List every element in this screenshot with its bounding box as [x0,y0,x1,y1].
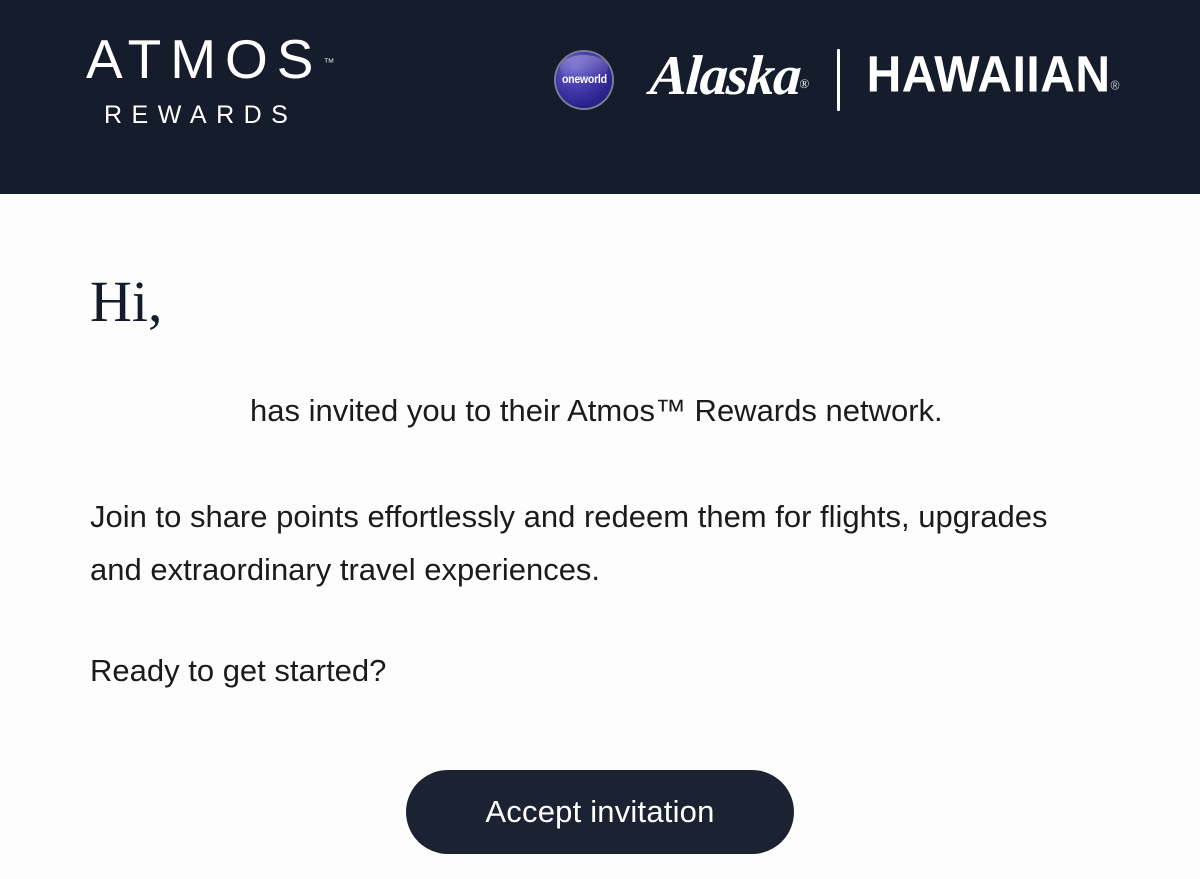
email-body: Hi, has invited you to their Atmos™ Rewa… [0,194,1200,879]
airline-logos: oneworld Alaska® HAWAIIAN® [556,40,1119,120]
cta-container: Accept invitation [0,770,1200,854]
greeting-line: Hi, [90,270,171,334]
benefits-paragraph: Join to share points effortlessly and re… [90,490,1090,596]
alaska-airlines-logo: Alaska® [648,46,812,114]
page-header: ATMOS™ REWARDS oneworld Alaska® HAWAIIAN… [0,0,1200,194]
invitation-line: has invited you to their Atmos™ Rewards … [90,390,1110,432]
hawaiian-label: HAWAIIAN [867,47,1111,103]
accept-invitation-button[interactable]: Accept invitation [406,770,794,854]
registered-mark-icon: ® [1111,77,1120,92]
cta-question: Ready to get started? [90,644,1090,697]
atmos-rewards-logo: ATMOS™ REWARDS [86,28,346,132]
registered-mark-icon: ® [799,76,810,91]
brand-name: ATMOS™ [86,28,346,90]
alaska-label: Alaska [648,45,802,107]
trademark-icon: ™ [323,58,334,69]
header-inner: ATMOS™ REWARDS oneworld Alaska® HAWAIIAN… [0,0,1200,194]
recipient-name [163,269,171,334]
oneworld-icon: oneworld [556,52,612,108]
greeting-text: Hi, [90,269,163,334]
invitation-text: has invited you to their Atmos™ Rewards … [250,393,943,428]
logo-divider [837,49,840,111]
oneworld-label: oneworld [562,74,607,86]
email-invitation-page: ATMOS™ REWARDS oneworld Alaska® HAWAIIAN… [0,0,1200,879]
hawaiian-airlines-logo: HAWAIIAN® [867,48,1120,113]
brand-subtitle: REWARDS [104,98,346,132]
brand-name-text: ATMOS [86,28,322,90]
